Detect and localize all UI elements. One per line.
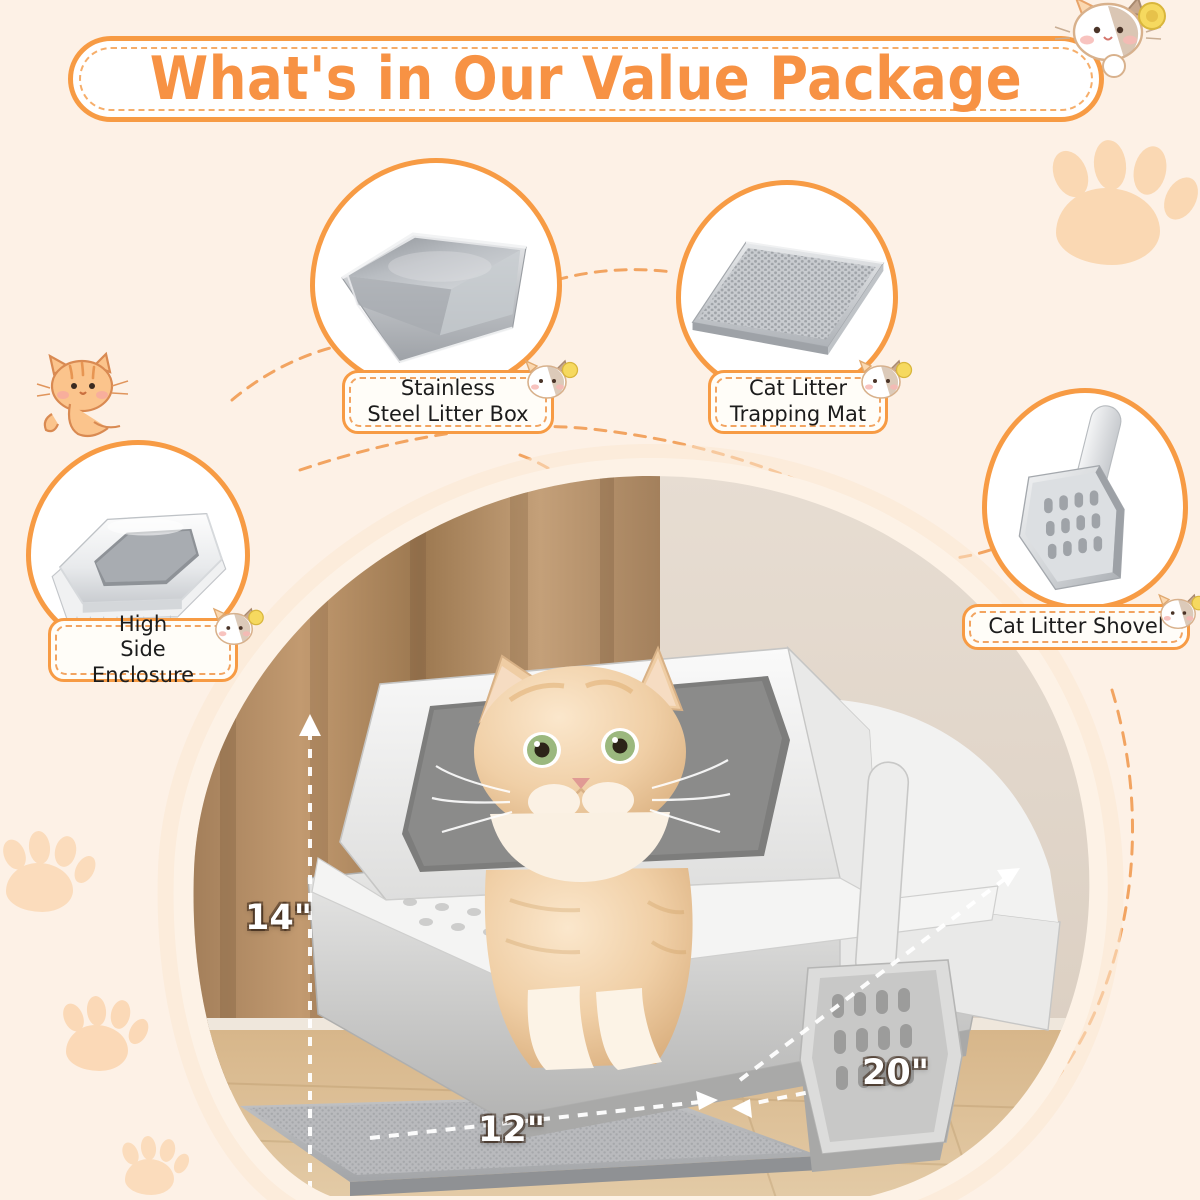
item-label-high-side-enclosure: High Side Enclosure — [48, 618, 238, 682]
item-label-cat-litter-trapping-mat: Cat Litter Trapping Mat — [708, 370, 888, 434]
honeycomb-mat-icon — [681, 185, 893, 393]
page-title: What's in Our Value Package — [150, 45, 1022, 113]
page-title-banner: What's in Our Value Package — [68, 36, 1104, 122]
dimension-label-depth: 20" — [862, 1053, 929, 1093]
item-label-cat-litter-shovel: Cat Litter Shovel — [962, 604, 1190, 650]
infographic-canvas: What's in Our Value Package — [0, 0, 1200, 1200]
dimension-label-height: 14" — [245, 898, 312, 938]
item-label-stainless-steel-litter-box: Stainless Steel Litter Box — [342, 370, 554, 434]
litter-scoop-icon — [987, 393, 1183, 605]
stainless-pan-icon — [315, 163, 557, 389]
hero-product-photo — [180, 470, 1100, 1200]
item-bubble-stainless-steel-litter-box[interactable] — [310, 158, 562, 394]
item-bubble-cat-litter-shovel[interactable] — [982, 388, 1188, 610]
dimension-label-width: 12" — [478, 1110, 545, 1150]
orange-tabby-cat-illustration — [36, 352, 148, 444]
item-bubble-cat-litter-trapping-mat[interactable] — [676, 180, 898, 398]
